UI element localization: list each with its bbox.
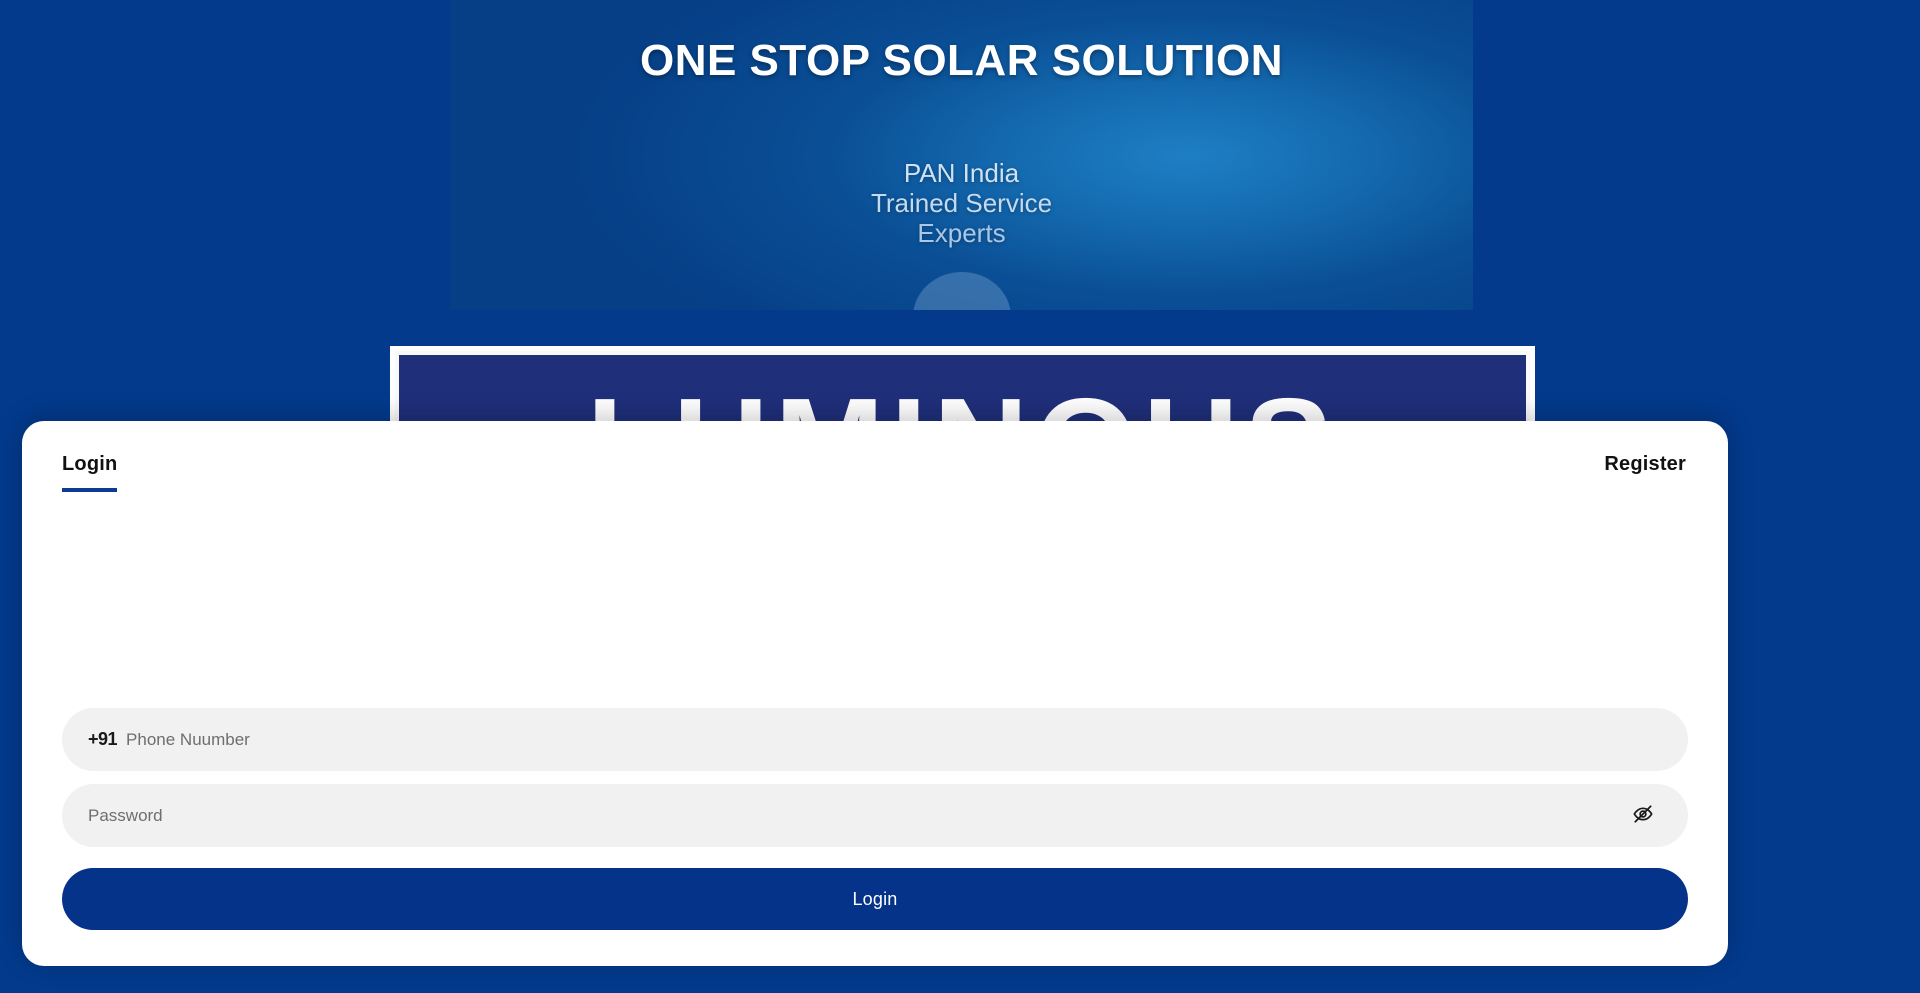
promo-headline: ONE STOP SOLAR SOLUTION (450, 36, 1473, 86)
promo-subtext-line-1: PAN India (450, 158, 1473, 188)
auth-tabs: Login Register (62, 453, 1688, 501)
password-field-wrapper[interactable] (62, 784, 1688, 847)
login-form: +91 Login (62, 708, 1688, 930)
promo-banner-solar: ONE STOP SOLAR SOLUTION PAN India Traine… (450, 0, 1473, 310)
password-input[interactable] (88, 784, 1662, 847)
tab-register[interactable]: Register (1604, 453, 1688, 492)
dome-graphic (913, 272, 1011, 310)
phone-input[interactable] (126, 708, 1662, 771)
promo-subtext: PAN India Trained Service Experts (450, 158, 1473, 248)
tab-login[interactable]: Login (62, 453, 117, 492)
auth-card: Login Register +91 Login (22, 421, 1728, 966)
password-visibility-toggle[interactable] (1628, 801, 1658, 831)
promo-subtext-line-3: Experts (450, 218, 1473, 248)
login-submit-button[interactable]: Login (62, 868, 1688, 930)
phone-field-wrapper[interactable]: +91 (62, 708, 1688, 771)
country-code-prefix: +91 (88, 729, 117, 750)
promo-subtext-line-2: Trained Service (450, 188, 1473, 218)
eye-off-icon (1632, 803, 1654, 828)
